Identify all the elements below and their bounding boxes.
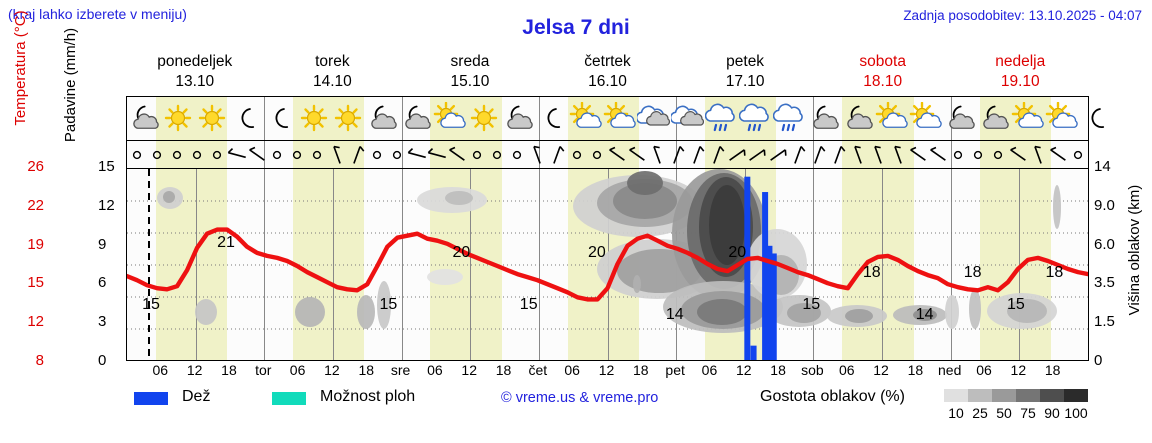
wind-barb-33 [788,141,808,169]
temp-label-min-0: 15 [142,296,160,314]
weather-icon-cloud-rain-19 [773,97,807,141]
weather-icon-moon-12 [535,97,569,141]
x-label-16: 06 [702,362,718,378]
day-name: nedelja [951,52,1089,72]
wind-barb-44 [1008,141,1028,169]
day-date: 14.10 [264,72,402,92]
day-name: četrtek [539,52,677,72]
wind-barb-9 [307,141,327,169]
cloud-scale-step-0 [944,389,968,402]
temp-label-min-2: 15 [379,296,397,314]
credit-link[interactable]: © vreme.us & vreme.pro [501,390,658,406]
x-label-21: 12 [873,362,889,378]
wind-barb-37 [868,141,888,169]
day-header-2: sreda15.10 [401,52,539,94]
wind-barb-26 [647,141,667,169]
temp-label-max-5: 20 [588,244,606,262]
wind-barb-12 [367,141,387,169]
weather-icon-sun-cloud-27 [1045,97,1079,141]
wind-barb-42 [968,141,988,169]
temp-label-min-8: 15 [802,296,820,314]
day-header-3: četrtek16.10 [539,52,677,94]
x-label-14: 18 [633,362,649,378]
cloudheight-tick-2: 6.0 [1094,236,1115,253]
wind-barb-3 [187,141,207,169]
x-label-8: 06 [427,362,443,378]
showers-swatch [272,392,306,405]
wind-barb-5 [227,141,247,169]
precip-tick-5: 0 [98,352,106,369]
wind-barb-25 [627,141,647,169]
x-label-7: sre [391,362,410,378]
x-label-12: 06 [564,362,580,378]
wind-barb-18 [487,141,507,169]
cloud-scale-step-2 [992,389,1016,402]
wind-barb-8 [287,141,307,169]
last-updated: Zadnja posodobitev: 13.10.2025 - 04:07 [903,8,1142,23]
temp-label-min-6: 14 [666,306,684,324]
x-label-19: sob [801,362,824,378]
cloudheight-tick-5: 0 [1094,352,1102,369]
precip-tick-2: 9 [98,236,106,253]
weather-icon-moon-cloud-20 [807,97,841,141]
cloud-scale-tick-3: 75 [1020,405,1036,421]
wind-barb-15 [427,141,447,169]
cloud-density-scale [944,389,1088,402]
x-label-20: 06 [839,362,855,378]
cloud-scale-step-1 [968,389,992,402]
weather-icon-moon-cloud-0 [127,97,161,141]
day-header-4: petek17.10 [676,52,814,94]
precip-bar-1 [751,346,757,360]
wind-barb-35 [828,141,848,169]
day-name: ponedeljek [126,52,264,72]
temp-label-max-1: 21 [217,234,235,252]
wind-barb-0 [127,141,147,169]
x-label-10: 18 [496,362,512,378]
x-label-6: 18 [358,362,374,378]
wind-barb-6 [247,141,267,169]
cloud-scale-tick-4: 90 [1044,405,1060,421]
weather-icon-sun-cloud-14 [603,97,637,141]
weather-icon-sun-5 [297,97,331,141]
x-label-4: 06 [290,362,306,378]
temp-tick-0: 26 [27,158,44,175]
day-date: 19.10 [951,72,1089,92]
day-date: 13.10 [126,72,264,92]
x-label-24: 06 [976,362,992,378]
temp-label-min-10: 14 [916,306,934,324]
x-label-25: 12 [1011,362,1027,378]
precip-bar-0 [744,177,750,360]
day-header-6: nedelja19.10 [951,52,1089,94]
weather-icon-sun-1 [161,97,195,141]
wind-barb-30 [727,141,747,169]
day-header-5: sobota18.10 [814,52,952,94]
temp-label-max-7: 20 [728,244,746,262]
wind-barb-47 [1068,141,1088,169]
weather-icon-moon-3 [229,97,263,141]
weather-icon-sun-10 [467,97,501,141]
day-date: 16.10 [539,72,677,92]
rain-legend-label: Dež [182,388,210,406]
wind-barb-13 [387,141,407,169]
weather-icon-cloud-rain-17 [705,97,739,141]
wind-barb-28 [687,141,707,169]
wind-barb-7 [267,141,287,169]
day-header-1: torek14.10 [264,52,402,94]
cloud-scale-tick-2: 50 [996,405,1012,421]
x-label-2: 18 [221,362,237,378]
wind-barb-19 [507,141,527,169]
day-name: torek [264,52,402,72]
wind-barb-16 [447,141,467,169]
x-label-23: ned [938,362,961,378]
legend: Dež Možnost ploh © vreme.us & vreme.pro … [126,386,1146,424]
wind-barb-4 [207,141,227,169]
day-header-0: ponedeljek13.10 [126,52,264,94]
weather-icon-sun-cloud-13 [569,97,603,141]
wind-barb-2 [167,141,187,169]
weather-icon-moon-cloud-8 [399,97,433,141]
wind-barb-22 [567,141,587,169]
wind-barb-27 [667,141,687,169]
cloudheight-tick-0: 14 [1094,158,1111,175]
rain-swatch [134,392,168,405]
cloudheight-tick-1: 9.0 [1094,197,1115,214]
x-label-22: 18 [908,362,924,378]
weather-icon-sun-cloud-26 [1011,97,1045,141]
cloud-density-ticks: 1025507590100 [944,405,1094,423]
day-header-strip: ponedeljek13.10torek14.10sreda15.10četrt… [126,52,1089,94]
cloud-density-title: Gostota oblakov (%) [760,388,905,406]
x-label-1: 12 [187,362,203,378]
meteogram-page: (kraj lahko izberete v meniju) Jelsa 7 d… [0,0,1152,443]
cloudheight-axis-title: Višina oblakov (km) [1126,145,1143,355]
x-axis-labels: 061218tor061218sre061218čet061218pet0612… [126,362,1089,382]
wind-barb-31 [747,141,767,169]
wind-barb-24 [607,141,627,169]
wind-barb-1 [147,141,167,169]
temp-tick-2: 19 [27,236,44,253]
day-date: 15.10 [401,72,539,92]
temp-tick-1: 22 [27,197,44,214]
showers-legend-label: Možnost ploh [320,388,415,406]
weather-icon-moon-cloud-7 [365,97,399,141]
wind-barb-46 [1048,141,1068,169]
wind-barb-10 [327,141,347,169]
x-label-13: 12 [599,362,615,378]
cloud-scale-tick-0: 10 [948,405,964,421]
temp-tick-5: 8 [36,352,44,369]
precip-tick-4: 3 [98,313,106,330]
temp-label-min-12: 15 [1007,296,1025,314]
meteogram-svg [127,169,1088,360]
x-label-3: tor [255,362,271,378]
day-date: 17.10 [676,72,814,92]
x-label-18: 18 [770,362,786,378]
x-label-17: 12 [736,362,752,378]
precipitation-axis-title: Padavine (mm/h) [62,0,79,185]
weather-icon-moon-cloud-25 [977,97,1011,141]
cloudheight-tick-4: 1.5 [1094,313,1115,330]
day-name: petek [676,52,814,72]
x-label-26: 18 [1045,362,1061,378]
cloud-scale-tick-1: 25 [972,405,988,421]
cloudheight-tick-3: 3.5 [1094,274,1115,291]
precip-tick-1: 12 [98,197,115,214]
wind-barb-41 [948,141,968,169]
weather-icon-moon-cloud-21 [841,97,875,141]
weather-icon-moon-28 [1079,97,1113,141]
weather-icon-sun-2 [195,97,229,141]
weather-icon-cloud-16 [671,97,705,141]
wind-barb-29 [707,141,727,169]
wind-barb-20 [527,141,547,169]
wind-barb-43 [988,141,1008,169]
wind-barb-23 [587,141,607,169]
day-name: sreda [401,52,539,72]
weather-icon-moon-4 [263,97,297,141]
wind-barb-45 [1028,141,1048,169]
temp-label-max-11: 18 [964,264,982,282]
temp-label-max-9: 18 [863,264,881,282]
wind-barb-21 [547,141,567,169]
cloud-scale-step-3 [1016,389,1040,402]
x-label-11: čet [529,362,548,378]
weather-icon-row [127,97,1088,141]
wind-barb-36 [848,141,868,169]
day-date: 18.10 [814,72,952,92]
wind-barb-11 [347,141,367,169]
weather-icon-sun-cloud-23 [909,97,943,141]
weather-icon-moon-cloud-11 [501,97,535,141]
weather-icon-cloud-rain-18 [739,97,773,141]
weather-icon-cloud-15 [637,97,671,141]
x-label-0: 06 [153,362,169,378]
precip-tick-3: 6 [98,274,106,291]
temp-label-max-13: 18 [1045,264,1063,282]
wind-barb-14 [407,141,427,169]
x-label-5: 12 [324,362,340,378]
plot-area: 1521152015201420151814181518 [127,169,1088,360]
precip-tick-0: 15 [98,158,115,175]
temp-label-min-4: 15 [520,296,538,314]
cloud-scale-step-4 [1040,389,1064,402]
temperature-axis-title: Temperatura (°C) [12,0,29,168]
wind-barb-32 [768,141,788,169]
wind-barb-38 [888,141,908,169]
x-label-9: 12 [461,362,477,378]
weather-icon-sun-cloud-9 [433,97,467,141]
wind-barb-39 [908,141,928,169]
cloud-scale-tick-5: 100 [1064,405,1087,421]
weather-icon-sun-cloud-22 [875,97,909,141]
wind-barb-17 [467,141,487,169]
cloud-scale-step-5 [1064,389,1088,402]
x-label-15: pet [665,362,684,378]
day-name: sobota [814,52,952,72]
temp-label-max-3: 20 [453,244,471,262]
weather-icon-moon-cloud-24 [943,97,977,141]
weather-icon-sun-6 [331,97,365,141]
wind-barb-40 [928,141,948,169]
plot-frame: 1521152015201420151814181518 [126,96,1089,361]
temp-tick-4: 12 [27,313,44,330]
precip-bar-4 [771,253,777,360]
temp-tick-3: 15 [27,274,44,291]
wind-barb-34 [808,141,828,169]
wind-barb-row [127,141,1088,169]
